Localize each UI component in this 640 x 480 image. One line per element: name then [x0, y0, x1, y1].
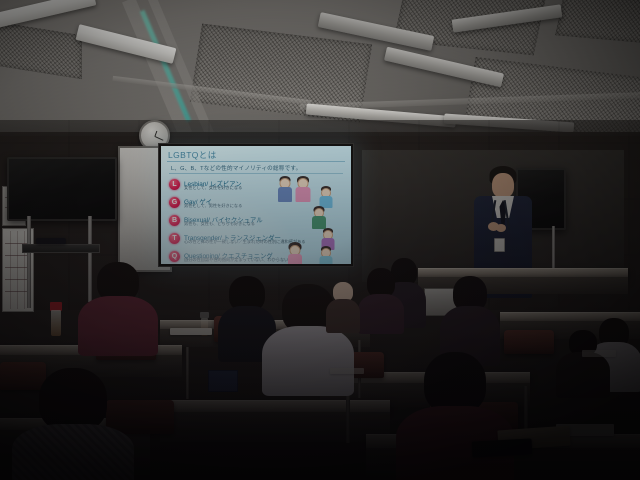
slide-figure-blue: [277, 176, 293, 202]
item-description: 女性として、女性を好きになる: [184, 186, 242, 191]
audience-head: [424, 352, 486, 414]
slide-subtitle: L、G、B、Tなどの性的マイノリティの総称です。: [171, 164, 301, 172]
ceiling: [0, 0, 640, 132]
audience-body: [326, 299, 360, 333]
audience-body: [556, 352, 610, 398]
bottle-body: [51, 310, 61, 336]
item-description: 男性も、女性も、どちらも好きになる: [184, 222, 255, 227]
handout-papers: [170, 328, 212, 335]
phone-on-desk: [472, 438, 533, 457]
badge-letter-g: G: [169, 197, 180, 208]
monitor-cart-post: [27, 216, 31, 308]
desk-leg: [186, 347, 189, 399]
slide-figure-pink: [295, 176, 311, 202]
presenter-hand: [496, 224, 506, 232]
media-player-device: [36, 238, 66, 244]
classroom-lecture-photo: LGBTQとは L、G、B、Tなどの性的マイノリティの総称です。 L Lesbi…: [0, 0, 640, 480]
audience-body: [78, 296, 158, 356]
audience-member-a1: [78, 262, 158, 354]
left-monitor: [7, 157, 117, 221]
monitor-cart-shelf: [22, 244, 100, 253]
badge-letter-t: T: [169, 233, 180, 244]
presenter-head: [492, 173, 514, 198]
audience-member-a4: [358, 268, 404, 334]
audience-body: [12, 424, 134, 480]
slide-figure-green: [311, 206, 326, 229]
handout-papers: [582, 350, 616, 357]
handout-papers: [330, 368, 364, 374]
audience-body: [358, 294, 404, 334]
subtitle-divider: [169, 173, 343, 174]
audience-member-a11: [326, 282, 360, 332]
presenter-id-badge: [494, 238, 505, 252]
slide-figure-lightblue: [319, 246, 333, 264]
slide-figure-cyan: [319, 186, 333, 208]
chair-back: [504, 330, 554, 354]
audience-member-a5: [556, 330, 610, 396]
slide-figure-girl-pink: [287, 242, 303, 264]
item-description: 男性として、男性を好きになる: [184, 204, 242, 209]
equipment-box: [208, 370, 238, 392]
slide-title: LGBTQとは: [168, 149, 217, 161]
projection-screen: LGBTQとは L、G、B、Tなどの性的マイノリティの総称です。 L Lesbi…: [158, 143, 354, 267]
badge-letter-l: L: [169, 179, 180, 190]
badge-letter-q: Q: [169, 251, 180, 262]
slide-surface: LGBTQとは L、G、B、Tなどの性的マイノリティの総称です。 L Lesbi…: [161, 146, 351, 264]
desk-row-front-front: [160, 412, 390, 442]
audience-member-a8: [12, 368, 134, 480]
wall-upper-shadow: [0, 120, 640, 136]
badge-letter-b: B: [169, 215, 180, 226]
audience-member-a7: [396, 352, 514, 480]
audience-body: [262, 326, 354, 396]
item-description: 自分の性自認や性的指向が定まっていない、わからない: [184, 258, 288, 263]
drink-bottle: [50, 302, 62, 336]
title-divider: [167, 161, 345, 162]
